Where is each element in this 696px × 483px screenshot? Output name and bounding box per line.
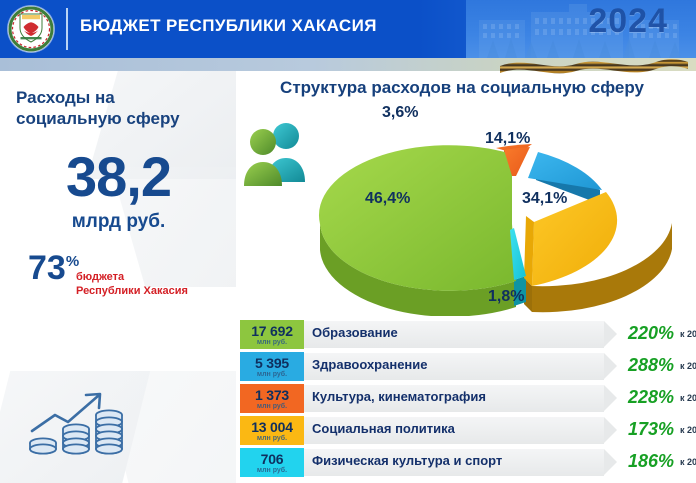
expense-rows-table: 17 692 млн руб. Образование 220% к 2017 … [240, 320, 696, 480]
table-row[interactable]: 5 395 млн руб. Здравоохранение 288% к 20… [240, 352, 696, 383]
table-row[interactable]: 1 373 млн руб. Культура, кинематография … [240, 384, 696, 415]
pie-label-social-policy: 34,1% [522, 190, 567, 208]
chart-title: Структура расходов на социальную сферу [236, 78, 688, 98]
row-value: 706 [261, 452, 284, 466]
row-note: к 2017 году [680, 329, 696, 339]
row-percent: 288% [628, 355, 674, 376]
budget-share-block: 73% бюджета Республики Хакасия [28, 251, 228, 285]
row-percent: 173% [628, 419, 674, 440]
khakassia-coat-of-arms-icon [8, 6, 54, 52]
row-value: 17 692 [251, 324, 293, 338]
row-note: к 2017 году [680, 457, 696, 467]
row-label: Образование [312, 325, 398, 340]
budget-share-subtext: бюджета Республики Хакасия [76, 271, 188, 299]
budget-share-subtext-line-2: Республики Хакасия [76, 285, 188, 299]
row-value: 5 395 [255, 356, 289, 370]
page-header: 2024 БЮДЖЕТ РЕСПУБЛИКИ ХАКАСИЯ [0, 0, 696, 58]
caption-line-1: Расходы на [16, 87, 226, 108]
table-row[interactable]: 13 004 млн руб. Социальная политика 173%… [240, 416, 696, 447]
row-unit: млн руб. [257, 435, 287, 442]
culture-badge: 1 373 млн руб. [240, 384, 304, 413]
pie-label-culture: 3,6% [382, 104, 418, 122]
social-expenses-unit: млрд руб. [16, 211, 221, 233]
row-label: Физическая культура и спорт [312, 453, 502, 468]
left-summary-panel: Расходы на социальную сферу 38,2 млрд ру… [0, 71, 236, 483]
budget-share-value: 73 [28, 251, 66, 285]
caption-line-2: социальную сферу [16, 108, 226, 129]
row-unit: млн руб. [257, 403, 287, 410]
header-divider [66, 8, 68, 50]
social-policy-badge: 13 004 млн руб. [240, 416, 304, 445]
budget-share-sign: % [66, 253, 79, 270]
row-label: Здравоохранение [312, 357, 428, 372]
infographic-page: 2024 БЮДЖЕТ РЕСПУБЛИКИ ХАКАСИЯ [0, 0, 696, 483]
row-note: к 2017 году [680, 393, 696, 403]
st-george-ribbon-icon [498, 54, 690, 74]
row-unit: млн руб. [257, 371, 287, 378]
table-row[interactable]: 706 млн руб. Физическая культура и спорт… [240, 448, 696, 479]
page-title: БЮДЖЕТ РЕСПУБЛИКИ ХАКАСИЯ [80, 16, 377, 36]
row-note: к 2017 году [680, 425, 696, 435]
row-unit: млн руб. [257, 467, 287, 474]
row-percent: 228% [628, 387, 674, 408]
row-value: 13 004 [251, 420, 293, 434]
pie-label-health: 14,1% [485, 130, 530, 148]
row-note: к 2017 году [680, 361, 696, 371]
row-label: Социальная политика [312, 421, 455, 436]
education-badge: 17 692 млн руб. [240, 320, 304, 349]
year-label: 2024 [588, 2, 668, 41]
row-percent: 186% [628, 451, 674, 472]
budget-share-subtext-line-1: бюджета [76, 271, 188, 285]
social-expenses-amount: 38,2 [16, 149, 221, 205]
growth-coins-icon [22, 381, 132, 461]
sport-badge: 706 млн руб. [240, 448, 304, 477]
row-percent: 220% [628, 323, 674, 344]
pie-label-education: 46,4% [365, 190, 410, 208]
pie-label-sport: 1,8% [488, 288, 524, 306]
row-label: Культура, кинематография [312, 389, 486, 404]
row-unit: млн руб. [257, 339, 287, 346]
health-badge: 5 395 млн руб. [240, 352, 304, 381]
social-expenses-caption: Расходы на социальную сферу [16, 87, 226, 130]
table-row[interactable]: 17 692 млн руб. Образование 220% к 2017 … [240, 320, 696, 351]
row-value: 1 373 [255, 388, 289, 402]
